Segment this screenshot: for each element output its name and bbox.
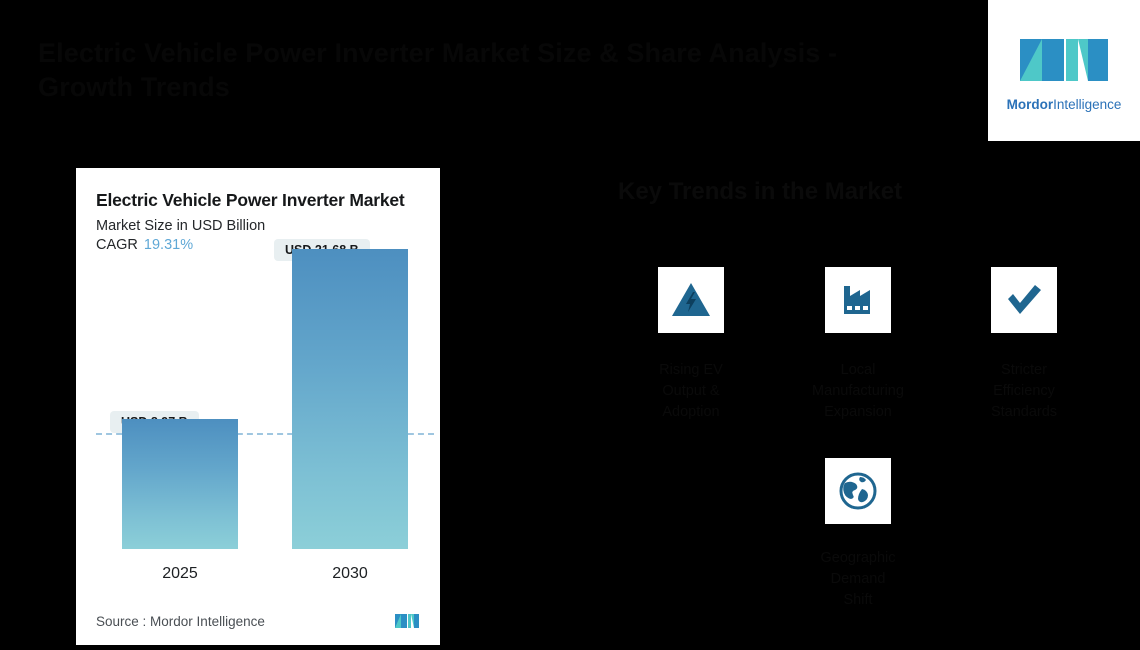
source-label: Source : — [96, 614, 146, 629]
trend-label-3: Stricter Efficiency Standards — [934, 360, 1114, 423]
source-name: Mordor Intelligence — [150, 614, 265, 629]
trend-icon-box-4[interactable] — [825, 458, 891, 524]
high-voltage-warning-icon — [669, 278, 713, 322]
brand-name-regular: Intelligence — [1053, 97, 1121, 112]
trends-heading: Key Trends in the Market — [618, 178, 902, 206]
mordor-m-logo-icon — [1016, 29, 1112, 91]
x-axis-tick-2030: 2030 — [292, 565, 408, 583]
mordor-m-logo-icon-small — [394, 611, 420, 631]
globe-icon — [836, 469, 880, 513]
chart-plot-area: USD 8.97 B USD 21.68 B 2025 2030 — [96, 261, 420, 591]
chart-footer: Source : Mordor Intelligence — [96, 611, 420, 631]
brand-logo-card[interactable]: MordorIntelligence — [988, 0, 1140, 141]
trend-icon-box-2[interactable] — [825, 267, 891, 333]
trend-label-1: Rising EV Output & Adoption — [601, 360, 781, 423]
bar-2025[interactable] — [122, 419, 238, 549]
x-axis-tick-2025: 2025 — [122, 565, 238, 583]
bar-2030[interactable] — [292, 249, 408, 549]
check-mark-icon — [1002, 278, 1046, 322]
page-title-line2: Growth Trends — [38, 70, 938, 104]
trend-label-4: Geographic Demand Shift — [768, 548, 948, 611]
chart-source: Source : Mordor Intelligence — [96, 614, 265, 629]
page-title-line1: Electric Vehicle Power Inverter Market S… — [38, 38, 837, 68]
page-title: Electric Vehicle Power Inverter Market S… — [38, 36, 938, 104]
cagr-value: 19.31% — [144, 237, 193, 253]
brand-wordmark: MordorIntelligence — [1007, 97, 1122, 112]
factory-icon — [836, 278, 880, 322]
infographic-page: Electric Vehicle Power Inverter Market S… — [0, 0, 1140, 650]
market-size-chart-card: Electric Vehicle Power Inverter Market M… — [76, 168, 440, 645]
cagr-label: CAGR — [96, 237, 138, 253]
brand-name-bold: Mordor — [1007, 97, 1054, 112]
trend-icon-box-1[interactable] — [658, 267, 724, 333]
chart-subtitle: Market Size in USD Billion — [96, 218, 420, 234]
chart-title: Electric Vehicle Power Inverter Market — [96, 190, 420, 211]
trend-label-2: Local Manufacturing Expansion — [768, 360, 948, 423]
trend-icon-box-3[interactable] — [991, 267, 1057, 333]
